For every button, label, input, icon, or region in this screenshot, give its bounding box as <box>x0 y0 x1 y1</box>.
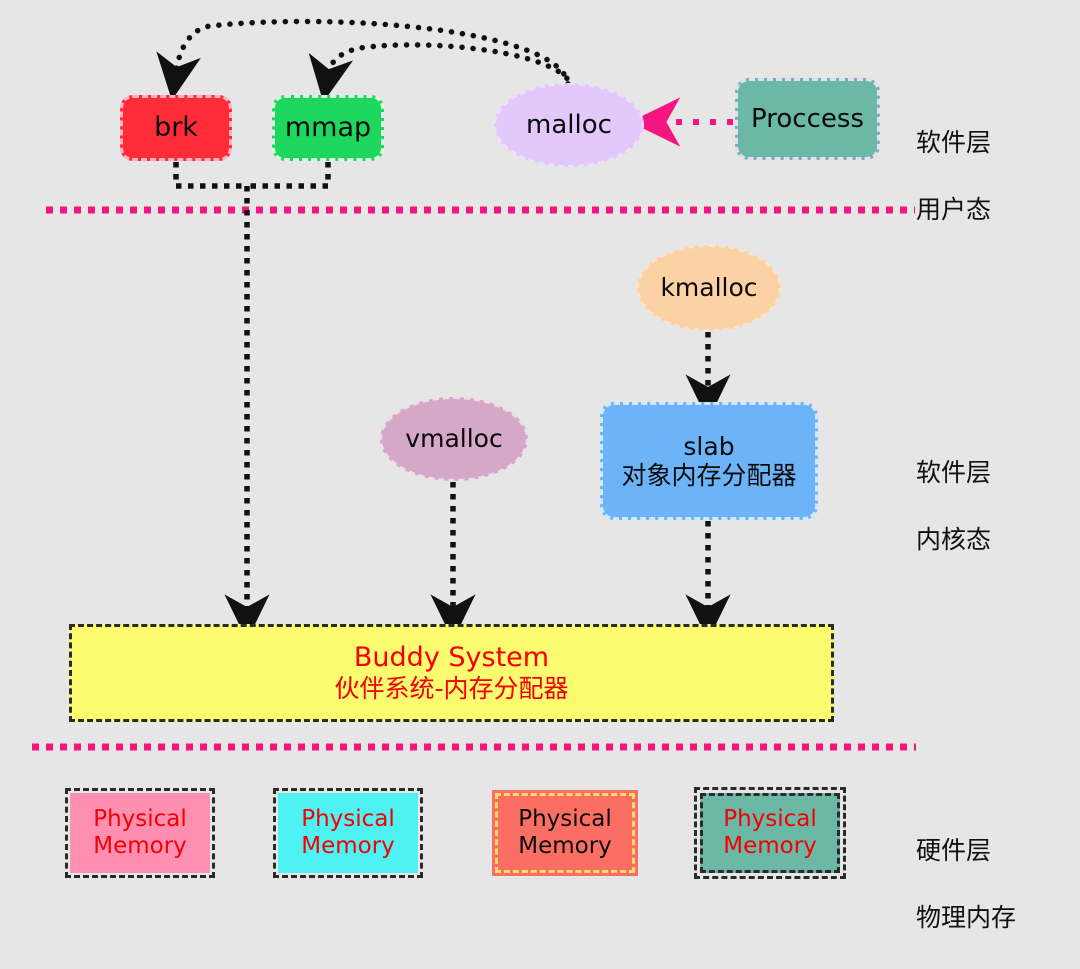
node-slab[interactable]: slab 对象内存分配器 <box>600 402 818 520</box>
layer-label-kernel-line2: 内核态 <box>916 523 991 557</box>
layer-label-user-line1: 软件层 <box>916 126 991 160</box>
physical-memory-4-text: Physical Memory <box>723 806 817 860</box>
layer-label-user-line2: 用户态 <box>916 193 991 227</box>
node-vmalloc[interactable]: vmalloc <box>380 397 528 481</box>
node-mmap-label: mmap <box>285 112 371 144</box>
node-brk[interactable]: brk <box>120 95 232 161</box>
diagram-canvas: brk mmap malloc Proccess kmalloc vmalloc… <box>0 0 1080 900</box>
node-physical-memory-1[interactable]: Physical Memory <box>70 793 210 873</box>
physical-memory-3-line2: Memory <box>518 833 612 860</box>
layer-label-hardware: 硬件层 物理内存 <box>916 800 1016 969</box>
node-mmap[interactable]: mmap <box>272 95 384 161</box>
physical-memory-1-line1: Physical <box>93 806 187 833</box>
node-physical-memory-2[interactable]: Physical Memory <box>278 793 418 873</box>
node-buddy-label-en: Buddy System <box>334 642 568 674</box>
node-malloc-label: malloc <box>526 110 612 141</box>
node-physical-memory-4[interactable]: Physical Memory <box>700 793 840 873</box>
node-physical-memory-3[interactable]: Physical Memory <box>495 793 635 873</box>
node-buddy-label-cn: 伙伴系统-内存分配器 <box>334 674 568 704</box>
node-brk-label: brk <box>154 112 198 144</box>
node-slab-text: slab 对象内存分配器 <box>621 432 796 491</box>
edge-malloc-to-brk <box>176 21 568 84</box>
node-buddy-system[interactable]: Buddy System 伙伴系统-内存分配器 <box>69 624 834 722</box>
layer-label-hardware-line1: 硬件层 <box>916 834 1016 868</box>
layer-label-hardware-line2: 物理内存 <box>916 901 1016 935</box>
layer-label-kernel-line1: 软件层 <box>916 456 991 490</box>
node-slab-label-cn: 对象内存分配器 <box>621 461 796 491</box>
physical-memory-1-line2: Memory <box>93 833 187 860</box>
physical-memory-2-text: Physical Memory <box>301 806 395 860</box>
edge-malloc-to-mmap <box>328 45 572 88</box>
physical-memory-4-line2: Memory <box>723 833 817 860</box>
layer-label-user: 软件层 用户态 <box>916 92 991 261</box>
node-process-label: Proccess <box>751 104 864 135</box>
node-slab-label-en: slab <box>621 432 796 462</box>
node-process[interactable]: Proccess <box>735 78 880 160</box>
physical-memory-4-line1: Physical <box>723 806 817 833</box>
physical-memory-3-text: Physical Memory <box>518 806 612 860</box>
node-kmalloc[interactable]: kmalloc <box>637 245 781 331</box>
node-vmalloc-label: vmalloc <box>405 424 502 454</box>
edge-brk-to-junction <box>176 162 247 186</box>
physical-memory-3-line1: Physical <box>518 806 612 833</box>
edge-mmap-to-junction <box>247 162 328 186</box>
node-malloc[interactable]: malloc <box>494 83 644 167</box>
node-buddy-text: Buddy System 伙伴系统-内存分配器 <box>334 642 568 703</box>
layer-label-kernel: 软件层 内核态 <box>916 422 991 591</box>
physical-memory-1-text: Physical Memory <box>93 806 187 860</box>
physical-memory-2-line1: Physical <box>301 806 395 833</box>
physical-memory-2-line2: Memory <box>301 833 395 860</box>
node-kmalloc-label: kmalloc <box>660 273 757 303</box>
